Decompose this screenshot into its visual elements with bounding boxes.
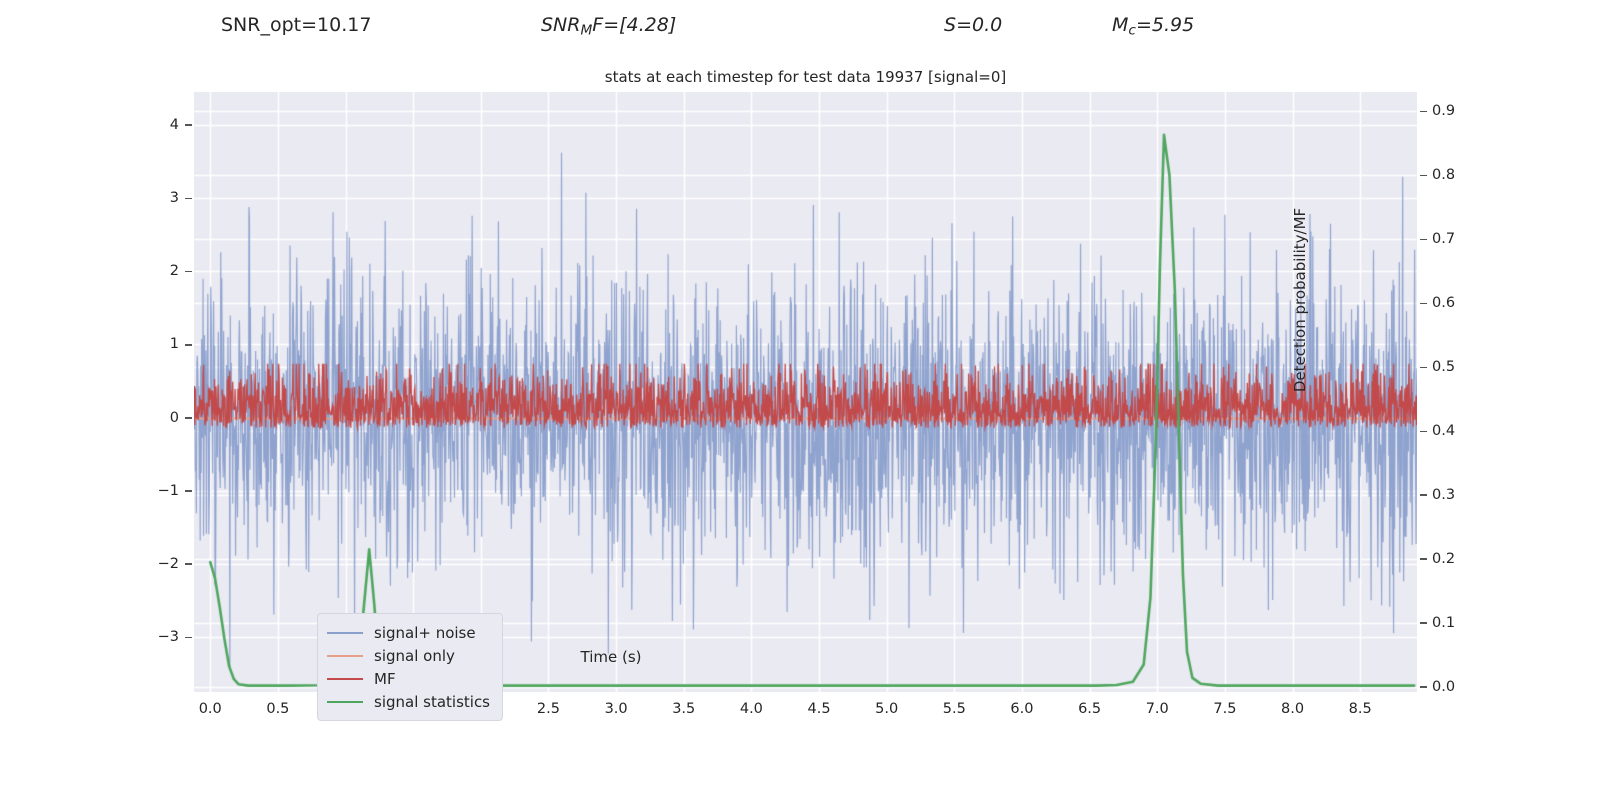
y-tick-label-right: 0.1 (1432, 615, 1455, 631)
legend-color-swatch (327, 655, 363, 657)
legend-color-swatch (327, 632, 363, 634)
y-tick-label-left: −1 (158, 483, 179, 499)
y-tick-label-right: 0.5 (1432, 359, 1455, 375)
y-tick-label-left: −3 (158, 629, 179, 645)
y-tick-label-right: 0.7 (1432, 231, 1455, 247)
y-tick-mark-right (1420, 494, 1427, 496)
x-tick-label: 0.5 (266, 701, 289, 717)
x-tick-label: 3.5 (672, 701, 695, 717)
y-tick-mark-right (1420, 686, 1427, 688)
y-tick-mark-left (185, 490, 192, 492)
y-tick-mark-right (1420, 622, 1427, 624)
legend-label: signal+ noise (374, 624, 476, 642)
x-tick-label: 6.0 (1010, 701, 1033, 717)
y-tick-label-right: 0.4 (1432, 423, 1455, 439)
y-tick-mark-left (185, 637, 192, 639)
x-tick-label: 8.5 (1349, 701, 1372, 717)
legend-row[interactable]: signal+ noise (327, 621, 490, 644)
y-tick-label-left: −2 (158, 556, 179, 572)
y-tick-label-left: 2 (170, 263, 179, 279)
y-tick-mark-left (185, 198, 192, 200)
y-tick-mark-left (185, 124, 192, 126)
legend-label: signal only (374, 647, 455, 665)
y-tick-label-left: 3 (170, 190, 179, 206)
legend-row[interactable]: signal statistics (327, 690, 490, 713)
y-tick-mark-left (185, 271, 192, 273)
y-tick-mark-right (1420, 431, 1427, 433)
axis-decorations: 43210−1−2−30.90.80.70.60.50.40.30.20.10.… (194, 92, 1417, 692)
y-tick-mark-right (1420, 558, 1427, 560)
y-tick-label-left: 0 (170, 410, 179, 426)
y-tick-label-right: 0.0 (1432, 679, 1455, 695)
x-tick-label: 5.5 (943, 701, 966, 717)
y-tick-label-right: 0.9 (1432, 103, 1455, 119)
y-tick-label-right: 0.6 (1432, 295, 1455, 311)
x-tick-label: 5.0 (875, 701, 898, 717)
x-tick-label: 0.0 (199, 701, 222, 717)
legend-row[interactable]: signal only (327, 644, 490, 667)
x-tick-label: 2.5 (537, 701, 560, 717)
x-axis-label: Time (s) (581, 648, 642, 666)
legend-label: signal statistics (374, 693, 490, 711)
x-tick-label: 3.0 (605, 701, 628, 717)
plot-legend: signal+ noisesignal onlyMFsignal statist… (317, 613, 503, 721)
y-tick-mark-right (1420, 303, 1427, 305)
y-tick-mark-right (1420, 175, 1427, 177)
x-tick-label: 4.0 (740, 701, 763, 717)
plot-title: stats at each timestep for test data 199… (194, 68, 1417, 86)
y-tick-mark-left (185, 563, 192, 565)
y-tick-label-right: 0.2 (1432, 551, 1455, 567)
legend-label: MF (374, 670, 396, 688)
legend-color-swatch (327, 701, 363, 703)
x-tick-label: 7.5 (1213, 701, 1236, 717)
y-tick-label-right: 0.3 (1432, 487, 1455, 503)
x-tick-label: 7.0 (1146, 701, 1169, 717)
y-tick-mark-left (185, 417, 192, 419)
y-axis-label-right: Detection probability/MF (1291, 208, 1309, 392)
y-tick-mark-right (1420, 111, 1427, 113)
y-tick-label-right: 0.8 (1432, 167, 1455, 183)
legend-color-swatch (327, 678, 363, 680)
y-tick-mark-right (1420, 367, 1427, 369)
y-tick-mark-right (1420, 239, 1427, 241)
legend-row[interactable]: MF (327, 667, 490, 690)
y-tick-label-left: 4 (170, 117, 179, 133)
matplotlib-figure: stats at each timestep for test data 199… (0, 0, 1600, 800)
x-tick-label: 6.5 (1078, 701, 1101, 717)
y-tick-label-left: 1 (170, 336, 179, 352)
x-tick-label: 8.0 (1281, 701, 1304, 717)
y-tick-mark-left (185, 344, 192, 346)
x-tick-label: 4.5 (807, 701, 830, 717)
